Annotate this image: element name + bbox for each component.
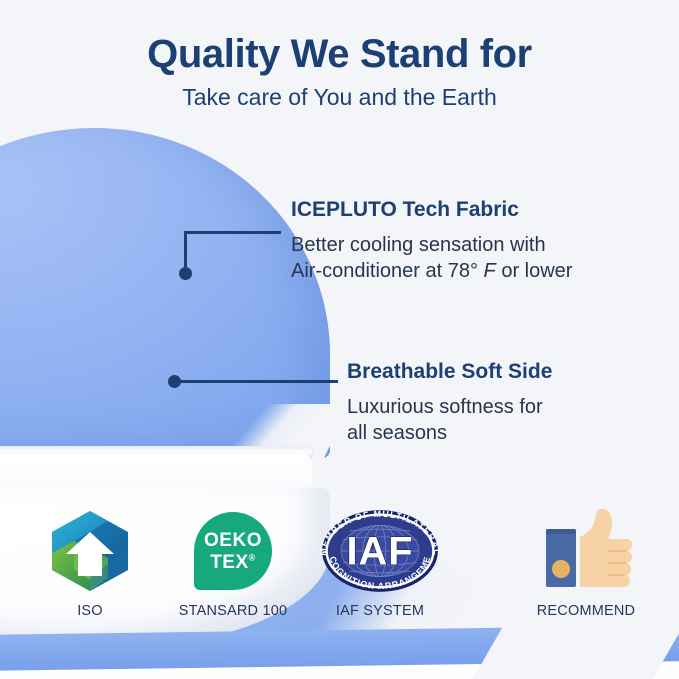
callout-1-body: Better cooling sensation with Air-condit… <box>291 232 641 285</box>
badge-oeko-label: STANSARD 100 <box>158 603 308 619</box>
callout-2-body: Luxurious softness for all seasons <box>347 394 647 447</box>
callout-2-title: Breathable Soft Side <box>347 360 552 384</box>
thumbs-up-icon <box>511 505 661 597</box>
callout-1-line-horizontal <box>184 231 281 234</box>
oeko-tex-droplet-icon: OEKO TEX® <box>158 505 308 597</box>
badge-iso: ISO <box>15 505 165 619</box>
oeko-tex-shape: OEKO TEX® <box>194 512 272 590</box>
page-title: Quality We Stand for <box>0 32 679 76</box>
product-infographic: Quality We Stand for Take care of You an… <box>0 0 679 679</box>
iaf-globe-oval-icon: MEMBER OF MULTILATERAL RECOGNITION ARRAN… <box>305 505 455 597</box>
badge-iaf-label: IAF SYSTEM <box>305 603 455 619</box>
oeko-text-line-1: OEKO <box>204 531 262 550</box>
iaf-center-text: IAF <box>346 529 413 573</box>
badge-recommend: RECOMMEND <box>511 505 661 619</box>
certification-badges: ISO OEKO TEX® STANSARD 100 <box>0 505 679 645</box>
callout-2-body-line-2: all seasons <box>347 420 647 446</box>
badge-recommend-label: RECOMMEND <box>511 603 661 619</box>
callout-1-temp-suffix: or lower <box>496 260 573 282</box>
badge-iaf: MEMBER OF MULTILATERAL RECOGNITION ARRAN… <box>305 505 455 619</box>
callout-2-line-horizontal <box>174 380 338 383</box>
callout-1-title: ICEPLUTO Tech Fabric <box>291 198 519 222</box>
registered-mark: ® <box>249 552 256 562</box>
oeko-text-line-2: TEX® <box>210 553 256 572</box>
iso-hexagon-arrow-icon <box>15 505 165 597</box>
badge-iso-label: ISO <box>15 603 165 619</box>
callout-2-body-line-1: Luxurious softness for <box>347 394 647 420</box>
callout-1-body-line-2: Air-conditioner at 78° F or lower <box>291 258 641 284</box>
tex-text: TEX <box>210 552 248 573</box>
callout-1-line-vertical <box>184 231 187 271</box>
callout-1-fahrenheit: F <box>484 260 496 282</box>
page-subtitle: Take care of You and the Earth <box>0 84 679 110</box>
upper-blue-pillow-dome <box>0 128 330 458</box>
callout-1-temp-prefix: Air-conditioner at 78° <box>291 260 484 282</box>
badge-oeko-tex: OEKO TEX® STANSARD 100 <box>158 505 308 619</box>
callout-1-body-line-1: Better cooling sensation with <box>291 232 641 258</box>
